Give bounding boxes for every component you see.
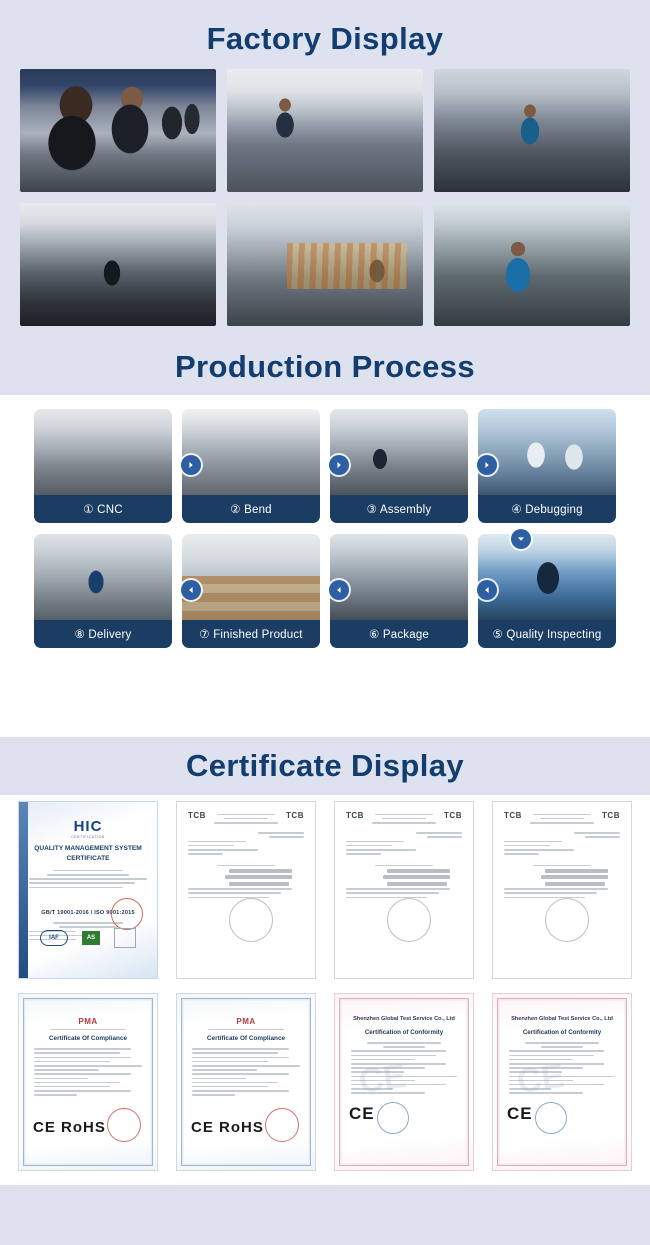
certificate-tcb-2[interactable]: TCB TCB bbox=[334, 801, 474, 979]
process-step-assembly-image bbox=[330, 409, 468, 495]
certificate-tcb-headlines bbox=[522, 811, 602, 826]
certificate-ce-content: PMA Certificate Of Compliance bbox=[186, 1001, 306, 1104]
factory-photo-panel-racks[interactable] bbox=[434, 69, 630, 192]
ce-mark-icon: CE bbox=[349, 1104, 375, 1124]
certificate-tcb-headlines bbox=[364, 811, 444, 826]
certificate-grid-row-1: HIC CERTIFICATION QUALITY MANAGEMENT SYS… bbox=[0, 801, 650, 979]
factory-photo-assembly-line-workers[interactable] bbox=[20, 69, 216, 192]
certificate-tcb-paper: TCB TCB bbox=[492, 801, 632, 979]
pma-logo-text: PMA bbox=[34, 1017, 142, 1026]
chevron-left-icon bbox=[477, 580, 497, 600]
certificate-hic-title: QUALITY MANAGEMENT SYSTEM CERTIFICATE bbox=[29, 844, 147, 864]
process-step-bend-label: ② Bend bbox=[182, 495, 320, 523]
certificate-side-bar bbox=[19, 802, 28, 978]
certificate-watermark: CE bbox=[357, 1057, 409, 1102]
process-step-debugging-image bbox=[478, 409, 616, 495]
certificate-gts-title: Certification of Conformity bbox=[509, 1029, 615, 1036]
process-step-finished-product-label: ⑦ Finished Product bbox=[182, 620, 320, 648]
factory-photo-grid bbox=[0, 59, 650, 326]
factory-photo-testing-room[interactable] bbox=[227, 203, 423, 326]
process-step-finished-product[interactable]: ⑦ Finished Product bbox=[182, 534, 320, 648]
certificate-tcb-header: TCB TCB bbox=[188, 811, 304, 826]
process-step-bend-image bbox=[182, 409, 320, 495]
production-process-section: ① CNC ② Bend ③ Assembly ④ Debugging bbox=[0, 395, 650, 737]
tcb-logo-left: TCB bbox=[188, 811, 206, 820]
process-rows: ① CNC ② Bend ③ Assembly ④ Debugging bbox=[0, 395, 650, 648]
process-step-cnc-image bbox=[34, 409, 172, 495]
certificate-seal-group: IAF AS bbox=[19, 928, 157, 948]
factory-display-heading: Factory Display bbox=[0, 20, 650, 59]
certificate-gts-organization: Shenzhen Global Test Service Co., Ltd bbox=[351, 1016, 457, 1022]
chevron-left-icon bbox=[181, 580, 201, 600]
certificate-red-stamp-icon bbox=[265, 1108, 299, 1142]
ce-mark-icon: CE bbox=[507, 1104, 533, 1124]
process-step-delivery[interactable]: ⑧ Delivery bbox=[34, 534, 172, 648]
certificate-blue-stamp-icon bbox=[535, 1102, 567, 1134]
factory-photo-clean-room[interactable] bbox=[434, 203, 630, 326]
certificate-blue-stamp-icon bbox=[377, 1102, 409, 1134]
certificate-tcb-paper: TCB TCB bbox=[176, 801, 316, 979]
cnas-seal-icon: AS bbox=[82, 931, 100, 945]
chevron-right-icon bbox=[329, 455, 349, 475]
production-process-heading-band: Production Process bbox=[0, 340, 650, 395]
process-step-debugging[interactable]: ④ Debugging bbox=[478, 409, 616, 523]
certificate-display-heading-band: Certificate Display bbox=[0, 737, 650, 795]
certificate-tcb-meta bbox=[504, 832, 620, 855]
certificate-ce-content: PMA Certificate Of Compliance bbox=[28, 1001, 148, 1104]
process-row-2: ⑧ Delivery ⑦ Finished Product ⑥ Package … bbox=[0, 534, 650, 648]
tcb-logo-left: TCB bbox=[346, 811, 364, 820]
certificate-tcb-table bbox=[346, 865, 462, 899]
tcb-logo-right: TCB bbox=[286, 811, 304, 820]
certificate-gts-conformity-2[interactable]: Shenzhen Global Test Service Co., Ltd Ce… bbox=[492, 993, 632, 1171]
certificate-tcb-meta bbox=[346, 832, 462, 855]
certificate-tcb-meta bbox=[188, 832, 304, 855]
certificate-tcb-header: TCB TCB bbox=[346, 811, 462, 826]
certificate-tcb-3[interactable]: TCB TCB bbox=[492, 801, 632, 979]
certificate-tcb-table bbox=[504, 865, 620, 899]
process-step-assembly-label: ③ Assembly bbox=[330, 495, 468, 523]
process-step-cnc[interactable]: ① CNC bbox=[34, 409, 172, 523]
production-process-heading: Production Process bbox=[0, 340, 650, 387]
certificate-gts-conformity-1[interactable]: Shenzhen Global Test Service Co., Ltd Ce… bbox=[334, 993, 474, 1171]
certificate-gts-paper: Shenzhen Global Test Service Co., Ltd Ce… bbox=[334, 993, 474, 1171]
process-step-delivery-image bbox=[34, 534, 172, 620]
process-step-bend[interactable]: ② Bend bbox=[182, 409, 320, 523]
process-step-quality-inspecting-image bbox=[478, 534, 616, 620]
certificate-tcb-headlines bbox=[206, 811, 286, 826]
certificate-tcb-table bbox=[188, 865, 304, 899]
process-step-assembly[interactable]: ③ Assembly bbox=[330, 409, 468, 523]
process-step-quality-inspecting[interactable]: ⑤ Quality Inspecting bbox=[478, 534, 616, 648]
certificate-hic-paper: HIC CERTIFICATION QUALITY MANAGEMENT SYS… bbox=[18, 801, 158, 979]
process-step-debugging-label: ④ Debugging bbox=[478, 495, 616, 523]
certificate-red-stamp-icon bbox=[111, 898, 143, 930]
certificate-area: HIC CERTIFICATION QUALITY MANAGEMENT SYS… bbox=[0, 795, 650, 1185]
certificate-ce-paper: PMA Certificate Of Compliance CE RoHS bbox=[176, 993, 316, 1171]
process-step-delivery-label: ⑧ Delivery bbox=[34, 620, 172, 648]
factory-photo-production-line[interactable] bbox=[227, 69, 423, 192]
hic-logo-text: HIC bbox=[74, 818, 103, 835]
certificate-hic-iso9001[interactable]: HIC CERTIFICATION QUALITY MANAGEMENT SYS… bbox=[18, 801, 158, 979]
certificate-stamp-icon bbox=[229, 898, 273, 942]
certificate-grid-row-2: PMA Certificate Of Compliance CE RoHS bbox=[0, 993, 650, 1171]
process-step-package[interactable]: ⑥ Package bbox=[330, 534, 468, 648]
certificate-stamp-icon bbox=[545, 898, 589, 942]
process-step-cnc-label: ① CNC bbox=[34, 495, 172, 523]
process-step-package-image bbox=[330, 534, 468, 620]
certificate-gts-organization: Shenzhen Global Test Service Co., Ltd bbox=[509, 1016, 615, 1022]
process-step-finished-product-image bbox=[182, 534, 320, 620]
certificate-display-heading: Certificate Display bbox=[0, 737, 650, 786]
hic-logo-subtext: CERTIFICATION bbox=[29, 835, 147, 839]
chevron-left-icon bbox=[329, 580, 349, 600]
certificate-gts-title: Certification of Conformity bbox=[351, 1029, 457, 1036]
certificate-watermark: CE bbox=[515, 1057, 567, 1102]
chevron-right-icon bbox=[181, 455, 201, 475]
certificate-stamp-icon bbox=[387, 898, 431, 942]
factory-photo-display-warehouse[interactable] bbox=[20, 203, 216, 326]
certificate-ce-rohs-2[interactable]: PMA Certificate Of Compliance CE RoHS bbox=[176, 993, 316, 1171]
ce-rohs-mark-icon: CE RoHS bbox=[191, 1119, 264, 1136]
certificate-ce-rohs-1[interactable]: PMA Certificate Of Compliance CE RoHS bbox=[18, 993, 158, 1171]
hic-logo-icon: HIC bbox=[29, 818, 147, 835]
certificate-tcb-header: TCB TCB bbox=[504, 811, 620, 826]
certificate-ce-paper: PMA Certificate Of Compliance CE RoHS bbox=[18, 993, 158, 1171]
qr-seal-icon bbox=[114, 928, 136, 948]
certificate-tcb-1[interactable]: TCB TCB bbox=[176, 801, 316, 979]
certificate-tcb-paper: TCB TCB bbox=[334, 801, 474, 979]
factory-display-section: Factory Display bbox=[0, 0, 650, 340]
chevron-right-icon bbox=[477, 455, 497, 475]
certificate-hic-body-lines bbox=[29, 870, 147, 888]
certificate-display-section: HIC CERTIFICATION QUALITY MANAGEMENT SYS… bbox=[0, 795, 650, 1245]
certificate-ce-body-lines bbox=[192, 1048, 300, 1096]
tcb-logo-left: TCB bbox=[504, 811, 522, 820]
process-step-package-label: ⑥ Package bbox=[330, 620, 468, 648]
certificate-red-stamp-icon bbox=[107, 1108, 141, 1142]
certificate-gts-paper: Shenzhen Global Test Service Co., Ltd Ce… bbox=[492, 993, 632, 1171]
process-row-1: ① CNC ② Bend ③ Assembly ④ Debugging bbox=[0, 409, 650, 523]
tcb-logo-right: TCB bbox=[602, 811, 620, 820]
iaf-seal-icon: IAF bbox=[40, 930, 68, 946]
chevron-down-icon bbox=[511, 529, 531, 549]
certificate-ce-title: Certificate Of Compliance bbox=[192, 1035, 300, 1042]
process-step-quality-inspecting-label: ⑤ Quality Inspecting bbox=[478, 620, 616, 648]
tcb-logo-right: TCB bbox=[444, 811, 462, 820]
pma-logo-text: PMA bbox=[192, 1017, 300, 1026]
certificate-ce-title: Certificate Of Compliance bbox=[34, 1035, 142, 1042]
ce-rohs-mark-icon: CE RoHS bbox=[33, 1119, 106, 1136]
certificate-ce-body-lines bbox=[34, 1048, 142, 1096]
